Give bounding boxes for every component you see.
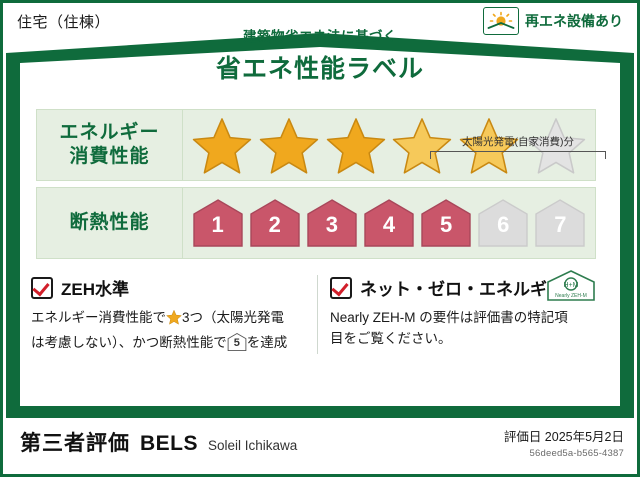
criteria-net-zero-body: Nearly ZEH-M の要件は評価書の特記項 目をご覧ください。 [330, 308, 589, 350]
energy-consumption-label-line1: エネルギー [59, 121, 159, 145]
criteria-net-zero-body-line1: Nearly ZEH-M の要件は評価書の特記項 [330, 310, 568, 325]
energy-consumption-row: エネルギー 消費性能 太陽光発電(自家消費)分 [36, 109, 596, 181]
third-party-eval-label: 第三者評価 [20, 427, 130, 457]
insulation-row: 断熱性能 1 2 3 4 [36, 187, 596, 259]
insulation-chip-7-value: 7 [554, 212, 566, 250]
star-3-filled [325, 116, 387, 174]
criteria-zeh: ZEH水準 エネルギー消費性能で 3つ（太陽光発電 は考慮しない）、かつ断熱性能… [31, 275, 317, 354]
insulation-chip-4-value: 4 [383, 212, 395, 250]
title-subtitle: 建築物省エネ法に基づく [3, 25, 637, 45]
energy-star-track: 太陽光発電(自家消費)分 [183, 109, 596, 181]
insulation-chip-1-value: 1 [211, 212, 223, 250]
nearly-zeh-m-badge-icon: H+M Nearly ZEH-M [545, 269, 597, 303]
checkbox-checked-icon [330, 277, 352, 299]
insulation-label: 断熱性能 [36, 187, 183, 259]
star-2-filled [258, 116, 320, 174]
energy-consumption-label: エネルギー 消費性能 [36, 109, 183, 181]
criteria-panels: ZEH水準 エネルギー消費性能で 3つ（太陽光発電 は考慮しない）、かつ断熱性能… [31, 275, 603, 354]
checkbox-checked-icon [31, 277, 53, 299]
star-1-filled [191, 116, 253, 174]
insulation-label-text: 断熱性能 [69, 211, 149, 235]
inline-insulation-chip-icon: 5 [227, 332, 247, 352]
insulation-chip-3-value: 3 [326, 212, 338, 250]
evaluation-date: 評価日 2025年5月2日 [504, 426, 624, 445]
insulation-chip-track: 1 2 3 4 5 [183, 187, 596, 259]
criteria-zeh-body-prefix: エネルギー消費性能で [31, 310, 166, 325]
page-title: 省エネ性能ラベル [3, 49, 637, 85]
insulation-chip-3: 3 [305, 196, 359, 250]
criteria-zeh-body: エネルギー消費性能で 3つ（太陽光発電 は考慮しない）、かつ断熱性能で 5 を達… [31, 308, 303, 354]
star-5-filled-solar [458, 116, 520, 174]
criteria-net-zero: ネット・ゼロ・エネルギー H+M Nearly ZEH-M Nearly ZEH… [317, 275, 603, 354]
criteria-zeh-title: ZEH水準 [61, 275, 129, 300]
star-6-empty [525, 116, 587, 174]
inline-insulation-chip-value: 5 [227, 335, 247, 352]
rating-rows: エネルギー 消費性能 太陽光発電(自家消費)分 [36, 109, 596, 265]
criteria-zeh-body-mid: 3つ（太陽光発電 [182, 310, 284, 325]
criteria-net-zero-title: ネット・ゼロ・エネルギー [360, 275, 564, 300]
insulation-chip-2: 2 [248, 196, 302, 250]
certificate-id: 56deed5a-b565-4387 [504, 448, 624, 459]
insulation-chip-6-value: 6 [497, 212, 509, 250]
title-block: 建築物省エネ法に基づく 省エネ性能ラベル [3, 25, 637, 85]
insulation-chip-4: 4 [362, 196, 416, 250]
svg-text:Nearly ZEH-M: Nearly ZEH-M [555, 293, 587, 299]
footer: 第三者評価 BELS Soleil Ichikawa 評価日 2025年5月2日… [6, 413, 640, 471]
insulation-chip-5: 5 [419, 196, 473, 250]
energy-performance-label: 住宅（住棟） 再エネ設備あり [0, 0, 640, 477]
inline-star-icon [166, 309, 182, 332]
insulation-chip-1: 1 [191, 196, 245, 250]
criteria-net-zero-body-line2: 目をご覧ください。 [330, 331, 452, 346]
insulation-chip-5-value: 5 [440, 212, 452, 250]
criteria-zeh-body-line2b: を達成 [247, 335, 288, 350]
insulation-chip-7: 7 [533, 196, 587, 250]
footer-right: 評価日 2025年5月2日 56deed5a-b565-4387 [504, 426, 624, 459]
footer-left: 第三者評価 BELS Soleil Ichikawa [20, 427, 297, 457]
bels-program-label: BELS [140, 432, 198, 456]
insulation-chip-2-value: 2 [269, 212, 281, 250]
building-name: Soleil Ichikawa [208, 438, 297, 453]
star-4-filled-solar [391, 116, 453, 174]
energy-consumption-label-line2: 消費性能 [69, 145, 149, 169]
svg-text:H+M: H+M [564, 282, 579, 289]
criteria-zeh-header: ZEH水準 [31, 275, 303, 300]
insulation-chip-6: 6 [476, 196, 530, 250]
criteria-zeh-body-line2a: は考慮しない）、かつ断熱性能で [31, 335, 227, 350]
